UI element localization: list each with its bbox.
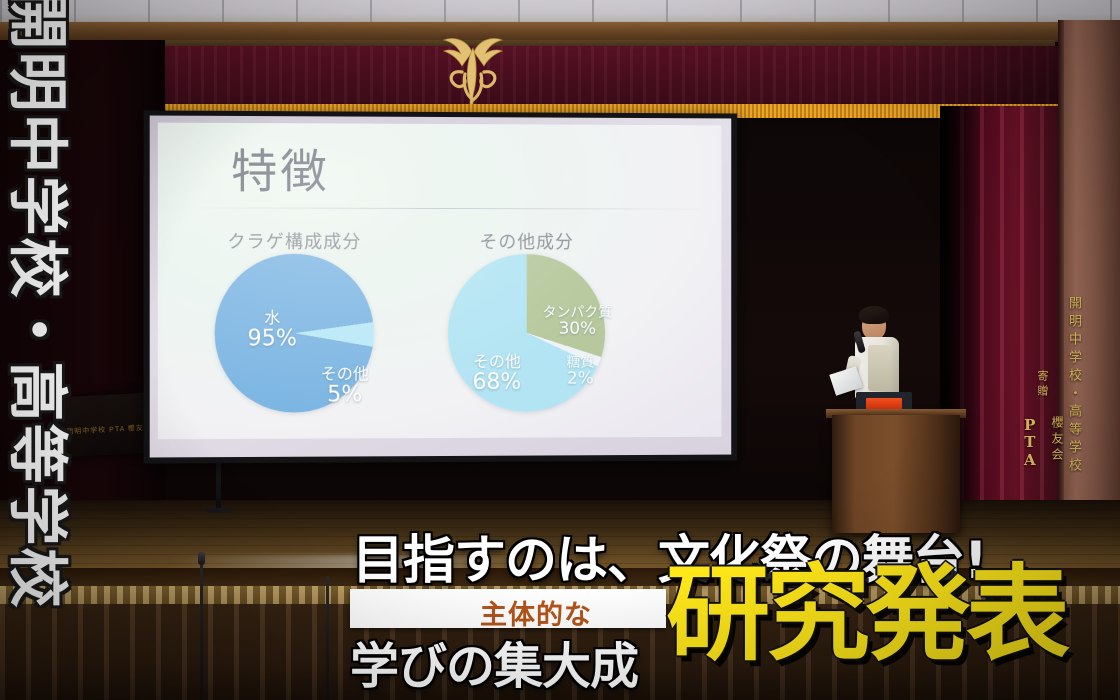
pie-slice-label-other-left: その他 5% <box>302 366 388 406</box>
screen-stand-foot <box>206 508 232 513</box>
caption-subline: 学びの集大成 <box>350 627 638 698</box>
stage-presentation-photo: 開明中学校 PTA 櫻友会 特徴 クラゲ構成成分 水 95% その <box>0 0 1120 700</box>
pie-slice-label-protein: タンパク質 30% <box>530 306 625 339</box>
presenter-hair <box>859 306 889 324</box>
slide-title: 特徴 <box>231 135 330 202</box>
donation-label: 寄贈 <box>1034 370 1050 400</box>
valance-shadow-right <box>900 46 1063 108</box>
screen-stand-leg <box>216 460 221 512</box>
pta-group-name: 櫻友会 <box>1049 416 1066 464</box>
pta-abbreviation: PTA <box>1024 417 1036 469</box>
projection-screen: 特徴 クラゲ構成成分 水 95% その他 5% その他成分 <box>144 110 738 463</box>
school-name-vertical-left: 開明中学校・高等学校 <box>0 0 86 590</box>
pie-chart-caption-right: その他成分 <box>448 228 605 254</box>
ceiling-ribs <box>0 0 1120 24</box>
pie-slice-label-other-right: その他 68% <box>454 354 540 394</box>
pie-chart-caption-left: クラゲ構成成分 <box>215 228 374 254</box>
caption-highlight-title: 研究発表 <box>666 562 1066 666</box>
mic-stand-left <box>200 560 203 700</box>
slide-title-divider <box>180 207 700 209</box>
wooden-podium <box>832 415 960 533</box>
ceiling-beam <box>0 22 1120 42</box>
mic-head-left <box>198 552 205 565</box>
presenter-vest <box>868 345 890 391</box>
school-name-vertical-right: 開明中学校・高等学校 <box>1064 296 1083 476</box>
caption-highlight-box: 主体的な <box>350 589 666 628</box>
pie-chart-other-components: その他成分 タンパク質 30% 糖質 2% その他 68% <box>448 228 605 418</box>
mic-stand-right <box>326 576 329 700</box>
pie-slice-label-water: 水 95% <box>237 310 308 350</box>
slide-canvas: 特徴 クラゲ構成成分 水 95% その他 5% その他成分 <box>158 123 722 440</box>
pie-chart-jellyfish-composition: クラゲ構成成分 水 95% その他 5% <box>215 228 374 419</box>
pie-slice-label-sugar: 糖質 2% <box>552 356 609 389</box>
